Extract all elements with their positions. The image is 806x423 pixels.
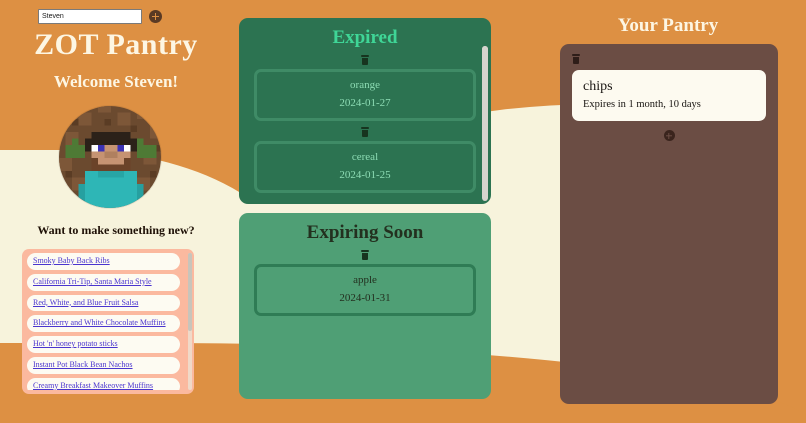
username-input[interactable] xyxy=(38,9,142,24)
trash-icon[interactable] xyxy=(361,250,369,260)
expired-entry: cereal 2024-01-25 xyxy=(239,127,491,193)
expired-item-name: cereal xyxy=(257,151,473,163)
add-user-button[interactable] xyxy=(149,10,162,23)
expired-panel-scrollbar-thumb[interactable] xyxy=(482,46,488,194)
expired-item-card[interactable]: orange 2024-01-27 xyxy=(254,69,476,121)
add-pantry-item-button[interactable] xyxy=(664,130,675,141)
recipe-link[interactable]: California Tri-Tip, Santa Maria Style xyxy=(33,277,174,288)
pantry-item-name: chips xyxy=(583,79,755,95)
expired-panel: Expired orange 2024-01-27 cereal 2024-01… xyxy=(239,18,491,204)
recipe-list-scrollbar-thumb[interactable] xyxy=(188,253,192,331)
expiring-soon-panel: Expiring Soon apple 2024-01-31 xyxy=(239,213,491,399)
expiring-soon-item-card[interactable]: apple 2024-01-31 xyxy=(254,264,476,316)
recipe-link[interactable]: Hot 'n' honey potato sticks xyxy=(33,339,174,350)
list-item[interactable]: Instant Pot Black Bean Nachos xyxy=(27,357,180,374)
expiring-soon-item-date: 2024-01-31 xyxy=(257,292,473,304)
pantry-panel: chips Expires in 1 month, 10 days xyxy=(560,44,778,404)
recipes-heading: Want to make something new? xyxy=(0,223,232,238)
expired-item-name: orange xyxy=(257,79,473,91)
list-item[interactable]: California Tri-Tip, Santa Maria Style xyxy=(27,274,180,291)
expired-panel-scrollbar[interactable] xyxy=(482,46,488,201)
expiring-soon-item-name: apple xyxy=(257,274,473,286)
expired-title: Expired xyxy=(239,27,491,49)
left-column: ZOT Pantry Welcome Steven! xyxy=(0,0,232,423)
trash-icon[interactable] xyxy=(361,127,369,137)
page-title: ZOT Pantry xyxy=(0,28,232,62)
list-item[interactable]: Smoky Baby Back Ribs xyxy=(27,253,180,270)
welcome-message: Welcome Steven! xyxy=(0,72,232,92)
list-item[interactable]: Hot 'n' honey potato sticks xyxy=(27,336,180,353)
trash-icon[interactable] xyxy=(572,54,580,64)
app-root: ZOT Pantry Welcome Steven! xyxy=(0,0,806,423)
list-item[interactable]: Red, White, and Blue Fruit Salsa xyxy=(27,295,180,312)
recipe-link[interactable]: Blackberry and White Chocolate Muffins xyxy=(33,318,174,329)
pantry-item-expiry: Expires in 1 month, 10 days xyxy=(583,99,755,110)
expired-entry: orange 2024-01-27 xyxy=(239,55,491,121)
list-item[interactable]: Blackberry and White Chocolate Muffins xyxy=(27,315,180,332)
recipe-scroll-area[interactable]: Smoky Baby Back Ribs California Tri-Tip,… xyxy=(27,253,189,390)
recipe-link[interactable]: Smoky Baby Back Ribs xyxy=(33,256,174,267)
expiring-soon-entry: apple 2024-01-31 xyxy=(239,250,491,316)
expired-item-card[interactable]: cereal 2024-01-25 xyxy=(254,141,476,193)
trash-icon[interactable] xyxy=(361,55,369,65)
list-item[interactable]: Creamy Breakfast Makeover Muffins xyxy=(27,378,180,390)
recipe-link[interactable]: Instant Pot Black Bean Nachos xyxy=(33,360,174,371)
recipe-link[interactable]: Red, White, and Blue Fruit Salsa xyxy=(33,298,174,309)
expired-item-date: 2024-01-25 xyxy=(257,169,473,181)
pantry-item-card[interactable]: chips Expires in 1 month, 10 days xyxy=(572,70,766,121)
recipe-link[interactable]: Creamy Breakfast Makeover Muffins xyxy=(33,381,174,390)
recipe-list[interactable]: Smoky Baby Back Ribs California Tri-Tip,… xyxy=(22,249,194,394)
pantry-heading: Your Pantry xyxy=(558,15,778,37)
avatar xyxy=(58,105,162,209)
recipe-list-scrollbar[interactable] xyxy=(188,253,192,390)
expired-item-date: 2024-01-27 xyxy=(257,97,473,109)
expiring-soon-title: Expiring Soon xyxy=(239,222,491,244)
user-bar xyxy=(38,9,162,24)
